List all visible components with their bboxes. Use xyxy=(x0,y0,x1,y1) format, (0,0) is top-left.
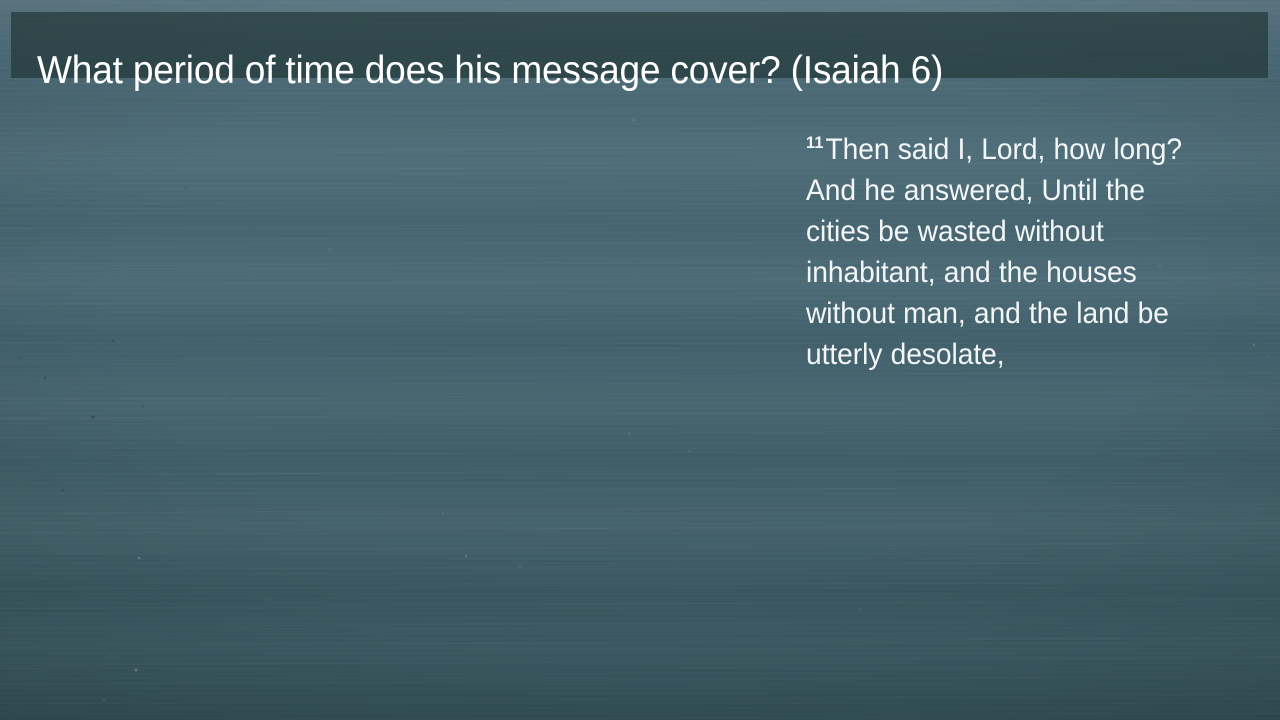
verse-number: 11 xyxy=(806,133,825,152)
scripture-text: Then said I, Lord, how long? And he answ… xyxy=(806,133,1182,371)
slide-canvas: What period of time does his message cov… xyxy=(0,0,1280,720)
scripture-paragraph: 11Then said I, Lord, how long? And he an… xyxy=(806,122,1215,375)
scripture-block: 11Then said I, Lord, how long? And he an… xyxy=(806,92,1234,404)
